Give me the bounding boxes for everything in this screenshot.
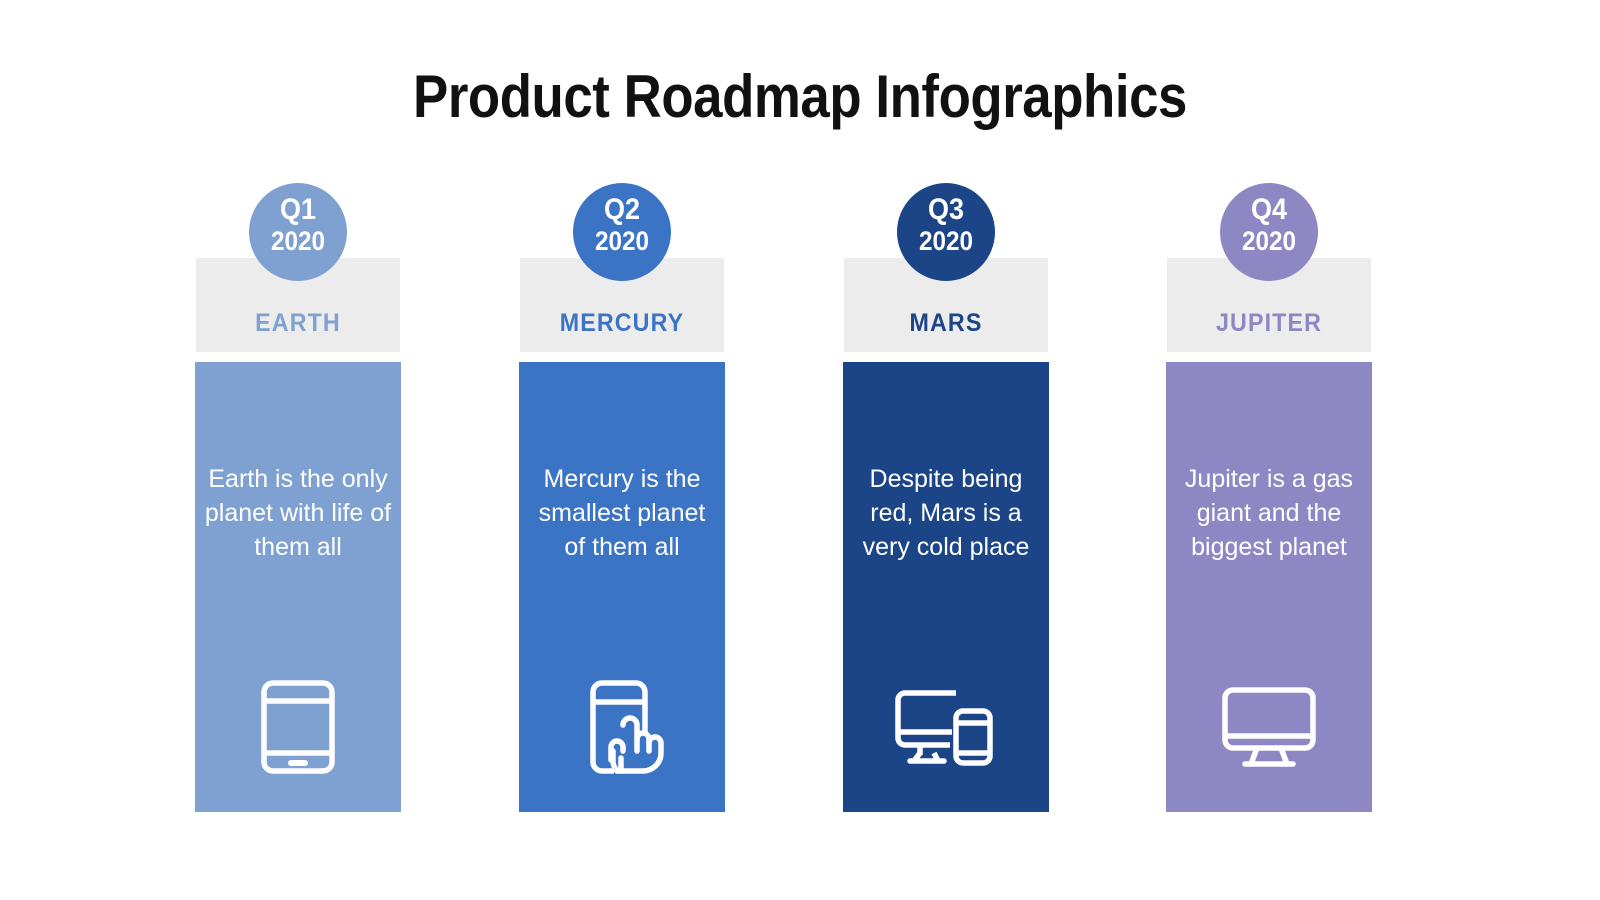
quarter-label-q3: Q3 (902, 195, 990, 225)
roadmap-column-q1[interactable]: EARTH Q1 2020 Earth is the only planet w… (195, 0, 401, 900)
quarter-label-q2: Q2 (578, 195, 666, 225)
roadmap-column-q3[interactable]: MARS Q3 2020 Despite being red, Mars is … (843, 0, 1049, 900)
description-q3: Despite being red, Mars is a very cold p… (849, 462, 1043, 564)
description-q1: Earth is the only planet with life of th… (201, 462, 395, 564)
planet-label-q2: MERCURY (527, 309, 717, 338)
planet-label-q3: MARS (851, 309, 1041, 338)
quarter-badge-q1[interactable]: Q1 2020 (249, 183, 347, 281)
year-label-q2: 2020 (578, 225, 666, 259)
quarter-badge-q4[interactable]: Q4 2020 (1220, 183, 1318, 281)
year-label-q1: 2020 (254, 225, 342, 259)
body-block-q1: Earth is the only planet with life of th… (195, 362, 401, 812)
year-label-q4: 2020 (1225, 225, 1313, 259)
quarter-label-q4: Q4 (1225, 195, 1313, 225)
planet-label-q1: EARTH (203, 309, 393, 338)
description-q4: Jupiter is a gas giant and the biggest p… (1172, 462, 1366, 564)
roadmap-column-q2[interactable]: MERCURY Q2 2020 Mercury is the smallest … (519, 0, 725, 900)
monitor-icon (1166, 672, 1372, 782)
year-label-q3: 2020 (902, 225, 990, 259)
quarter-badge-q3[interactable]: Q3 2020 (897, 183, 995, 281)
slide-canvas: Product Roadmap Infographics EARTH Q1 20… (0, 0, 1600, 900)
description-q2: Mercury is the smallest planet of them a… (525, 462, 719, 564)
desktop-mobile-icon (843, 672, 1049, 782)
body-block-q2: Mercury is the smallest planet of them a… (519, 362, 725, 812)
planet-label-q4: JUPITER (1174, 309, 1364, 338)
quarter-badge-q2[interactable]: Q2 2020 (573, 183, 671, 281)
quarter-label-q1: Q1 (254, 195, 342, 225)
body-block-q4: Jupiter is a gas giant and the biggest p… (1166, 362, 1372, 812)
roadmap-column-q4[interactable]: JUPITER Q4 2020 Jupiter is a gas giant a… (1166, 0, 1372, 900)
tap-gesture-icon (519, 672, 725, 782)
tablet-icon (195, 672, 401, 782)
body-block-q3: Despite being red, Mars is a very cold p… (843, 362, 1049, 812)
